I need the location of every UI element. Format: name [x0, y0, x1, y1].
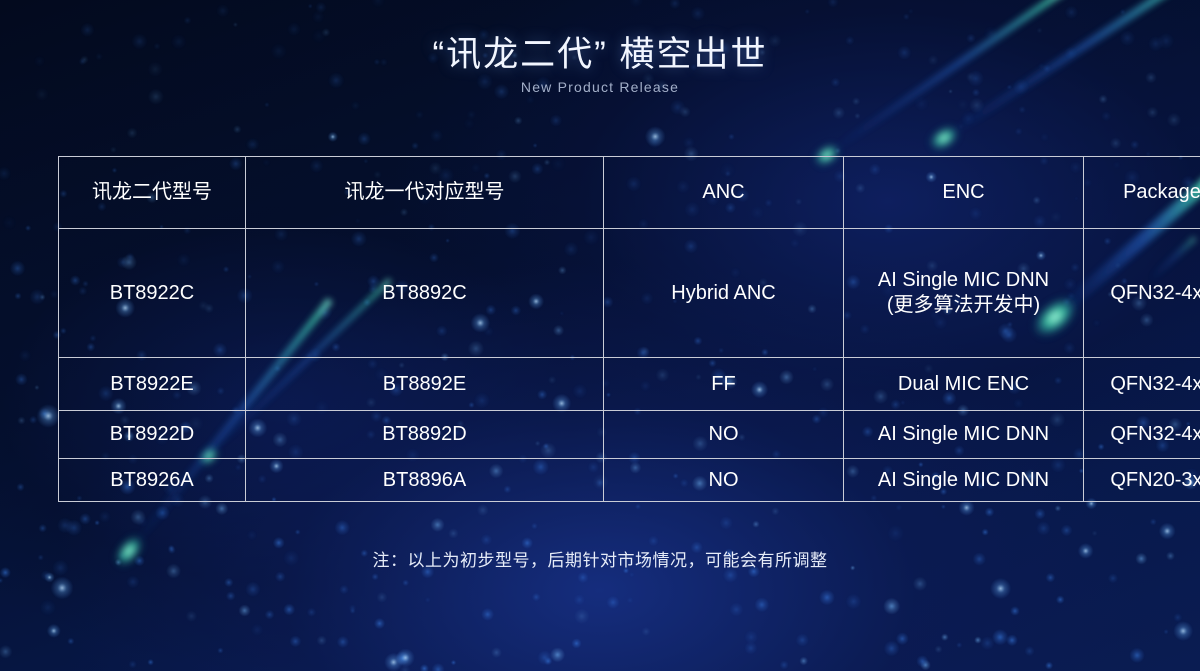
- cell-model-gen1: BT8896A: [246, 459, 604, 502]
- table-row: BT8922D BT8892D NO AI Single MIC DNN QFN…: [59, 411, 1200, 459]
- column-header-anc: ANC: [604, 157, 844, 229]
- cell-enc: Dual MIC ENC: [844, 358, 1084, 411]
- product-spec-table-container: 讯龙二代型号 讯龙一代对应型号 ANC ENC Package MP时间 BT8…: [58, 156, 1143, 501]
- page-subtitle: New Product Release: [0, 79, 1200, 95]
- cell-model-gen2: BT8926A: [59, 459, 246, 502]
- column-header-enc: ENC: [844, 157, 1084, 229]
- cell-package: QFN32-4x4: [1084, 229, 1200, 358]
- cell-model-gen2: BT8922D: [59, 411, 246, 459]
- cell-model-gen1: BT8892D: [246, 411, 604, 459]
- cell-package: QFN32-4x4: [1084, 411, 1200, 459]
- cell-enc: AI Single MIC DNN: [844, 411, 1084, 459]
- cell-anc: Hybrid ANC: [604, 229, 844, 358]
- cell-anc: NO: [604, 411, 844, 459]
- cell-package: QFN32-4x4: [1084, 358, 1200, 411]
- cell-model-gen2: BT8922E: [59, 358, 246, 411]
- cell-anc: NO: [604, 459, 844, 502]
- cell-anc: FF: [604, 358, 844, 411]
- page-title: “讯龙二代” 横空出世: [0, 33, 1200, 77]
- table-row: BT8926A BT8896A NO AI Single MIC DNN QFN…: [59, 459, 1200, 502]
- cell-enc: AI Single MIC DNN: [844, 459, 1084, 502]
- cell-package: QFN20-3x3: [1084, 459, 1200, 502]
- table-header-row: 讯龙二代型号 讯龙一代对应型号 ANC ENC Package MP时间: [59, 157, 1200, 229]
- cell-model-gen1: BT8892E: [246, 358, 604, 411]
- slide-title-block: “讯龙二代” 横空出世 New Product Release: [0, 33, 1200, 95]
- table-row: BT8922E BT8892E FF Dual MIC ENC QFN32-4x…: [59, 358, 1200, 411]
- footnote-text: 注：以上为初步型号，后期针对市场情况，可能会有所调整: [0, 546, 1200, 571]
- cell-enc: AI Single MIC DNN (更多算法开发中): [844, 229, 1084, 358]
- cell-model-gen1: BT8892C: [246, 229, 604, 358]
- table-row: BT8922C BT8892C Hybrid ANC AI Single MIC…: [59, 229, 1200, 358]
- product-spec-table: 讯龙二代型号 讯龙一代对应型号 ANC ENC Package MP时间 BT8…: [58, 156, 1200, 502]
- column-header-package: Package: [1084, 157, 1200, 229]
- cell-model-gen2: BT8922C: [59, 229, 246, 358]
- column-header-model-gen1: 讯龙一代对应型号: [246, 157, 604, 229]
- column-header-model-gen2: 讯龙二代型号: [59, 157, 246, 229]
